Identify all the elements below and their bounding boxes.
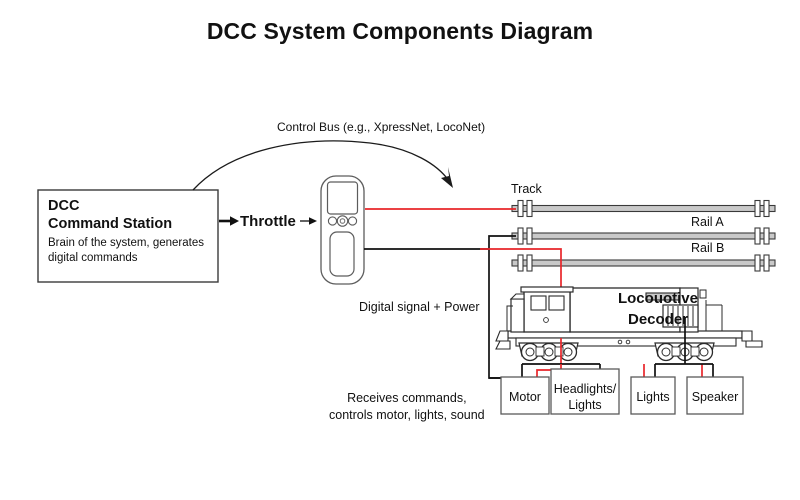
control-bus-label: Control Bus (e.g., XpressNet, LocoNet) bbox=[277, 120, 485, 134]
throttle-label: Throttle bbox=[240, 213, 296, 231]
throttle-button-left bbox=[328, 217, 336, 225]
track-label: Track bbox=[511, 182, 542, 197]
page-title: DCC System Components Diagram bbox=[0, 18, 800, 45]
rail-b bbox=[512, 255, 775, 271]
command-station-line1: DCC bbox=[48, 198, 79, 215]
throttle-screen bbox=[328, 182, 358, 214]
rail-a-label: Rail A bbox=[691, 215, 724, 230]
digital-signal-annotation: Digital signal + Power bbox=[359, 300, 480, 315]
throttle-slot bbox=[330, 232, 354, 276]
command-station-line2: Command Station bbox=[48, 216, 172, 233]
rail-a bbox=[512, 228, 775, 244]
command-station-description: Brain of the system, generates digital c… bbox=[48, 236, 204, 266]
throttle-device[interactable] bbox=[321, 176, 364, 284]
throttle-button-right bbox=[348, 217, 356, 225]
rail-track bbox=[512, 201, 775, 217]
lights-label: Lights bbox=[631, 390, 675, 406]
rail-b-label: Rail B bbox=[691, 241, 724, 256]
loco-truck-front bbox=[519, 343, 578, 361]
locomotive-decoder-label: Locouotive Decoder bbox=[588, 288, 728, 331]
receives-commands-annotation: Receives commands, controls motor, light… bbox=[329, 390, 485, 424]
motor-label: Motor bbox=[501, 390, 549, 406]
throttle-to-device-arrow bbox=[300, 217, 317, 225]
station-to-throttle-arrow bbox=[219, 216, 239, 226]
headlights-label: Headlights/ Lights bbox=[551, 382, 619, 413]
speaker-label: Speaker bbox=[687, 390, 743, 406]
